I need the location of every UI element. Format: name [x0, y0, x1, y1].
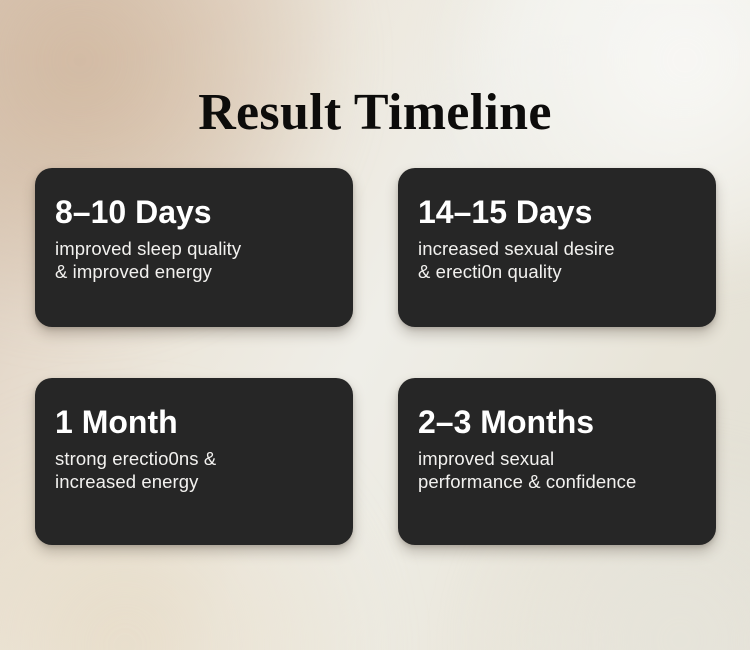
timeline-card-body: strong erectio0ns & increased energy [55, 447, 333, 493]
timeline-card-1-month: 1 Month strong erectio0ns & increased en… [35, 378, 353, 545]
timeline-card-body: improved sleep quality & improved energy [55, 237, 333, 283]
timeline-card-heading: 1 Month [55, 404, 333, 440]
timeline-card-2-3-months: 2–3 Months improved sexual performance &… [398, 378, 716, 545]
timeline-card-body: increased sexual desire & erecti0n quali… [418, 237, 696, 283]
timeline-card-heading: 8–10 Days [55, 194, 333, 230]
timeline-card-8-10-days: 8–10 Days improved sleep quality & impro… [35, 168, 353, 327]
timeline-card-body: improved sexual performance & confidence [418, 447, 696, 493]
timeline-card-grid: 8–10 Days improved sleep quality & impro… [35, 168, 716, 545]
timeline-card-14-15-days: 14–15 Days increased sexual desire & ere… [398, 168, 716, 327]
timeline-card-heading: 2–3 Months [418, 404, 696, 440]
result-timeline-poster: Result Timeline 8–10 Days improved sleep… [0, 0, 750, 650]
timeline-card-heading: 14–15 Days [418, 194, 696, 230]
page-title: Result Timeline [0, 82, 750, 144]
poster-content: Result Timeline 8–10 Days improved sleep… [0, 0, 750, 650]
